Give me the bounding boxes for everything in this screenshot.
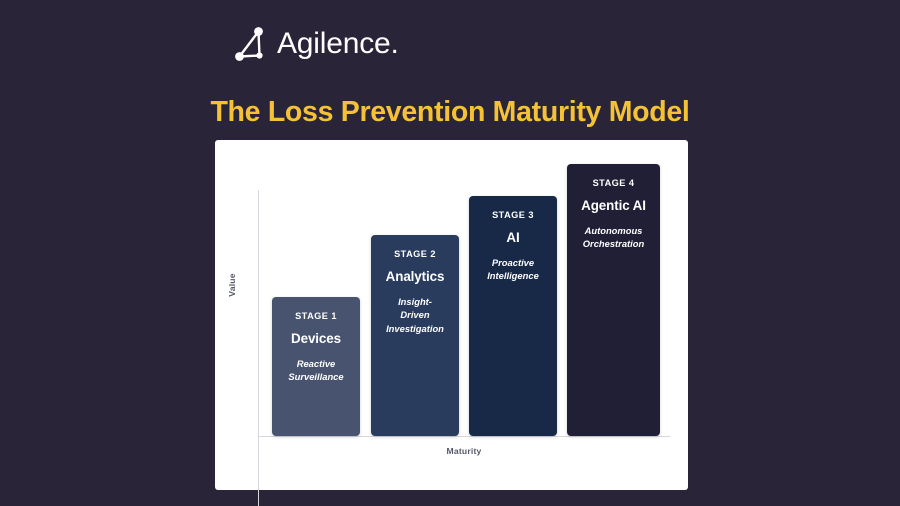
brand-wordmark: Agilence. bbox=[277, 29, 399, 59]
bar-description-label: Autonomous Orchestration bbox=[567, 224, 660, 251]
bar-description-label: Insight- Driven Investigation bbox=[371, 295, 459, 335]
bar-stage-label: STAGE 1 bbox=[272, 311, 360, 322]
bars-layer: STAGE 1 Devices Reactive Surveillance ST… bbox=[215, 140, 688, 490]
triangle-nodes-logo-icon bbox=[228, 23, 270, 65]
bar-stage-label: STAGE 4 bbox=[567, 178, 660, 189]
bar-name-label: Devices bbox=[272, 331, 360, 347]
bar-name-label: AI bbox=[469, 230, 557, 246]
bar-stage-label: STAGE 3 bbox=[469, 210, 557, 221]
brand-logo: Agilence. bbox=[228, 22, 399, 66]
bar-stage-2[interactable]: STAGE 2 Analytics Insight- Driven Invest… bbox=[371, 235, 459, 436]
bar-stage-3[interactable]: STAGE 3 AI Proactive Intelligence bbox=[469, 196, 557, 436]
bar-description-label: Reactive Surveillance bbox=[272, 357, 360, 384]
chart-card: Value Maturity STAGE 1 Devices Reactive … bbox=[215, 140, 688, 490]
bar-name-label: Analytics bbox=[371, 269, 459, 285]
slide-root: { "brand": { "wordmark": "Agilence.", "l… bbox=[0, 0, 900, 506]
bar-name-label: Agentic AI bbox=[567, 198, 660, 214]
bar-stage-4[interactable]: STAGE 4 Agentic AI Autonomous Orchestrat… bbox=[567, 164, 660, 436]
bar-description-label: Proactive Intelligence bbox=[469, 256, 557, 283]
page-title: The Loss Prevention Maturity Model bbox=[0, 96, 900, 129]
bar-stage-1[interactable]: STAGE 1 Devices Reactive Surveillance bbox=[272, 297, 360, 436]
bar-stage-label: STAGE 2 bbox=[371, 249, 459, 260]
